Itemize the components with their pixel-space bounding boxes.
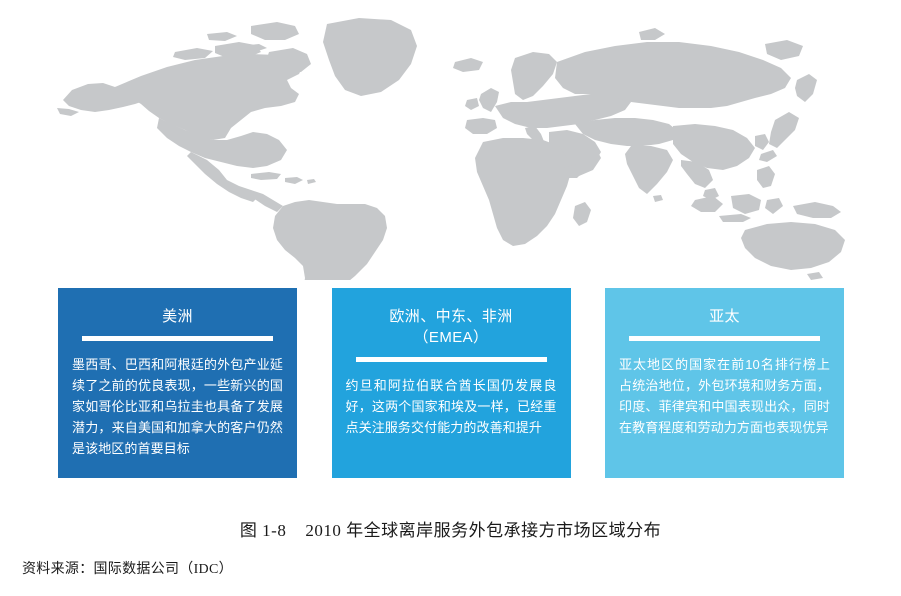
landmass-korea <box>755 134 769 150</box>
figure-caption: 图 1-8 2010 年全球离岸服务外包承接方市场区域分布 <box>0 516 901 541</box>
region-card-divider <box>82 336 273 341</box>
landmass-kamchatka <box>795 74 817 102</box>
region-card-divider <box>629 336 820 341</box>
landmass-ireland <box>465 98 479 110</box>
figure-source: 资料来源：国际数据公司（IDC） <box>22 558 233 578</box>
landmass-java <box>719 214 751 222</box>
landmass-sri-lanka <box>653 195 663 202</box>
landmass-iceland <box>453 58 483 72</box>
landmass-uk <box>479 88 499 112</box>
landmass-sulawesi <box>765 198 783 214</box>
region-card-title: 欧洲、中东、非洲 （EMEA） <box>346 306 557 348</box>
landmass-pr <box>307 179 316 184</box>
landmass-scandinavia <box>511 52 557 100</box>
landmass-tasmania <box>807 272 823 280</box>
landmass-japan <box>769 112 799 148</box>
landmass-africa <box>475 138 571 246</box>
landmass-arctic-isl-a <box>207 32 237 41</box>
landmass-group <box>57 18 855 280</box>
world-map <box>55 8 855 280</box>
landmass-aleutians <box>57 108 79 116</box>
region-card-divider <box>356 357 547 362</box>
landmass-south-america <box>273 200 387 280</box>
region-cards-row: 美洲 墨西哥、巴西和阿根廷的外包产业延续了之前的优良表现，一些新兴的国家如哥伦比… <box>58 288 844 478</box>
landmass-australia <box>741 222 845 270</box>
landmass-borneo <box>731 194 761 214</box>
world-map-svg <box>55 8 855 280</box>
landmass-philippines <box>757 166 775 188</box>
landmass-greenland <box>323 18 417 96</box>
landmass-sumatra <box>691 196 723 212</box>
region-card-emea: 欧洲、中东、非洲 （EMEA） 约旦和阿拉伯联合酋长国仍发展良好，这两个国家和埃… <box>332 288 571 478</box>
landmass-cuba <box>251 172 281 180</box>
region-card-americas: 美洲 墨西哥、巴西和阿根廷的外包产业延续了之前的优良表现，一些新兴的国家如哥伦比… <box>58 288 297 478</box>
landmass-iberia <box>465 118 497 134</box>
landmass-madagascar <box>573 202 591 226</box>
landmass-new-guinea <box>793 202 841 218</box>
region-card-body: 亚太地区的国家在前10名排行榜上占统治地位，外包环境和财务方面，印度、菲律宾和中… <box>619 354 830 438</box>
region-card-apac: 亚太 亚太地区的国家在前10名排行榜上占统治地位，外包环境和财务方面，印度、菲律… <box>605 288 844 478</box>
region-card-body: 墨西哥、巴西和阿根廷的外包产业延续了之前的优良表现，一些新兴的国家如哥伦比亚和乌… <box>72 354 283 459</box>
landmass-ellesmere <box>251 22 299 40</box>
landmass-banks-island <box>173 48 213 60</box>
landmass-central-america <box>251 190 283 212</box>
landmass-japan-south <box>759 150 777 162</box>
landmass-siberia-ne <box>765 40 803 60</box>
region-card-body: 约旦和阿拉伯联合酋长国仍发展良好，这两个国家和埃及一样，已经重点关注服务交付能力… <box>346 375 557 438</box>
landmass-india <box>625 146 673 194</box>
landmass-novaya-zemlya <box>639 28 665 40</box>
region-card-title: 亚太 <box>619 306 830 327</box>
landmass-hispaniola <box>285 177 303 184</box>
figure-container: 美洲 墨西哥、巴西和阿根廷的外包产业延续了之前的优良表现，一些新兴的国家如哥伦比… <box>0 0 901 596</box>
region-card-title: 美洲 <box>72 306 283 327</box>
